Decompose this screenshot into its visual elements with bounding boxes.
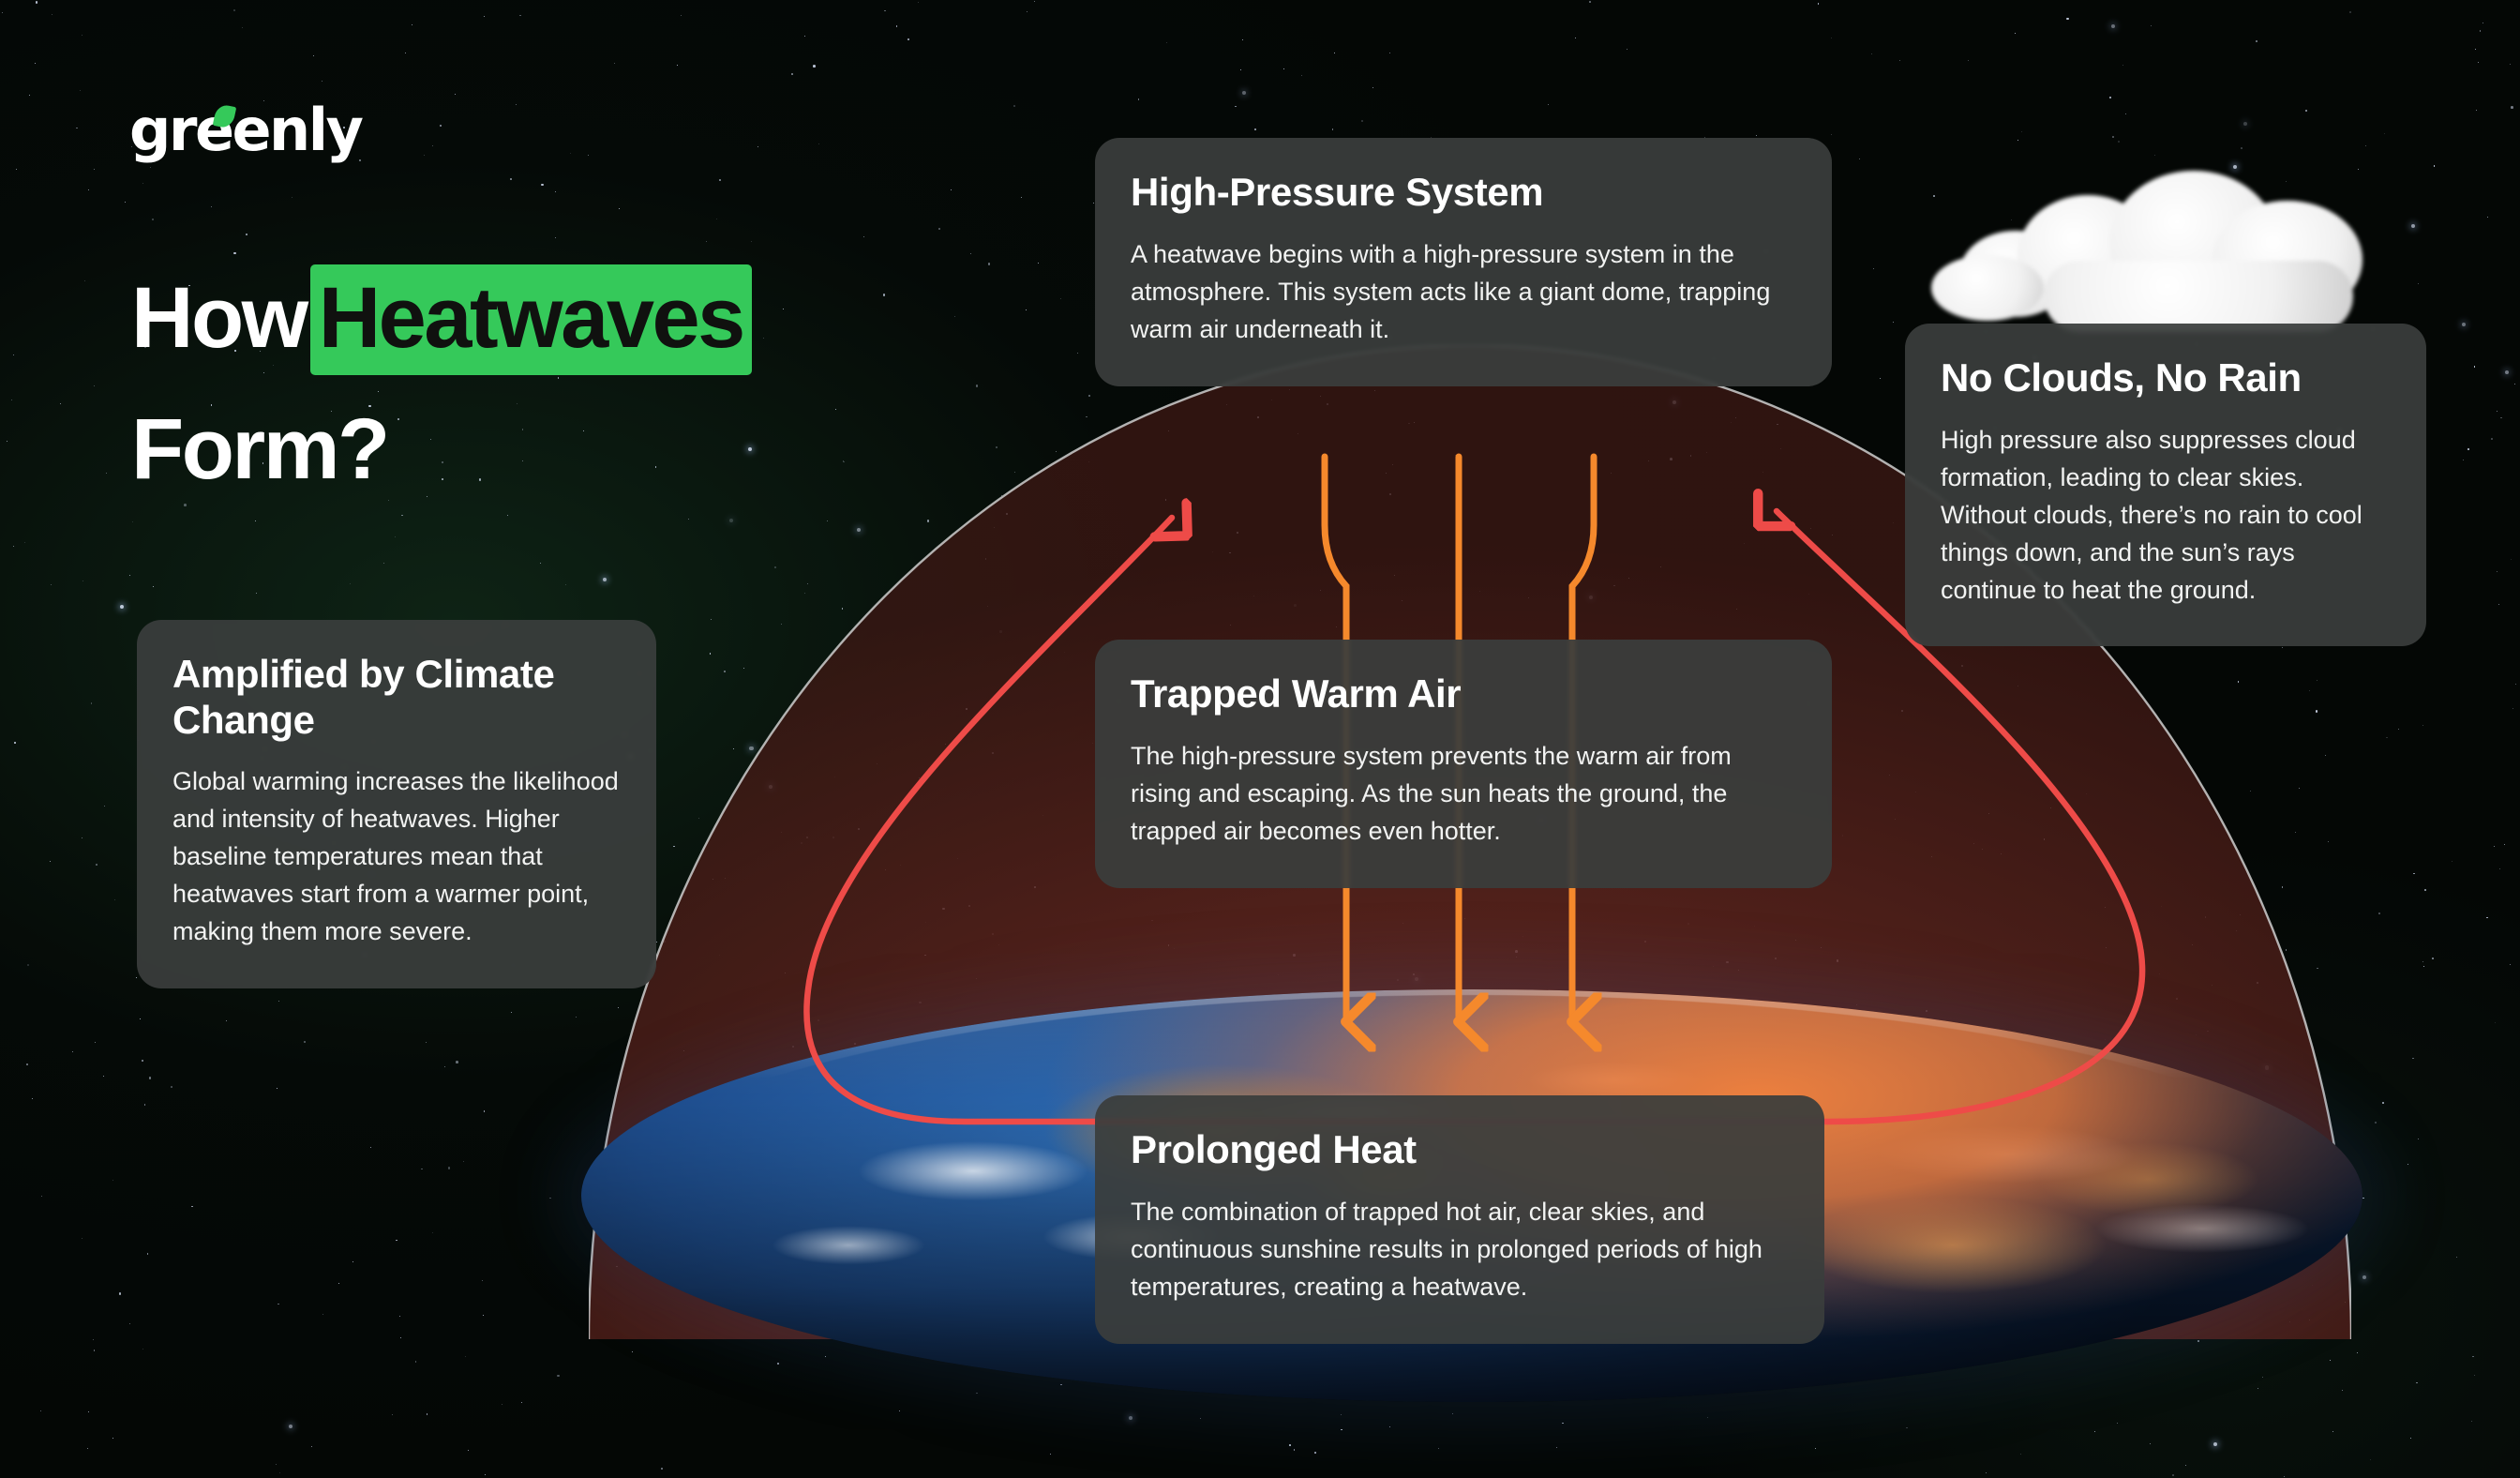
card-body: A heatwave begins with a high-pressure s… [1131,236,1796,349]
card-amplified-by-climate-change[interactable]: Amplified by Climate Change Global warmi… [137,620,656,988]
page-title: HowHeatwaves Form? [131,275,975,492]
card-title: Trapped Warm Air [1131,671,1796,717]
cloud-icon [1931,158,2400,345]
card-title: No Clouds, No Rain [1941,355,2391,401]
title-highlight: Heatwaves [310,264,752,375]
card-body: The combination of trapped hot air, clea… [1131,1194,1789,1306]
title-part-1: How [131,270,307,366]
card-title: Amplified by Climate Change [172,652,621,743]
card-title: Prolonged Heat [1131,1127,1789,1173]
card-body: The high-pressure system prevents the wa… [1131,738,1796,851]
card-high-pressure-system[interactable]: High-Pressure System A heatwave begins w… [1095,138,1832,386]
logo-wordmark: greenly [129,101,361,159]
card-no-clouds-no-rain[interactable]: No Clouds, No Rain High pressure also su… [1905,324,2426,646]
infographic-canvas: greenly HowHeatwaves Form? High-Pressure… [0,0,2520,1478]
card-prolonged-heat[interactable]: Prolonged Heat The combination of trappe… [1095,1095,1824,1344]
title-part-2: Form? [131,401,388,497]
greenly-logo[interactable]: greenly [129,101,361,158]
card-trapped-warm-air[interactable]: Trapped Warm Air The high-pressure syste… [1095,640,1832,888]
card-title: High-Pressure System [1131,170,1796,216]
card-body: High pressure also suppresses cloud form… [1941,422,2391,610]
card-body: Global warming increases the likelihood … [172,763,621,951]
